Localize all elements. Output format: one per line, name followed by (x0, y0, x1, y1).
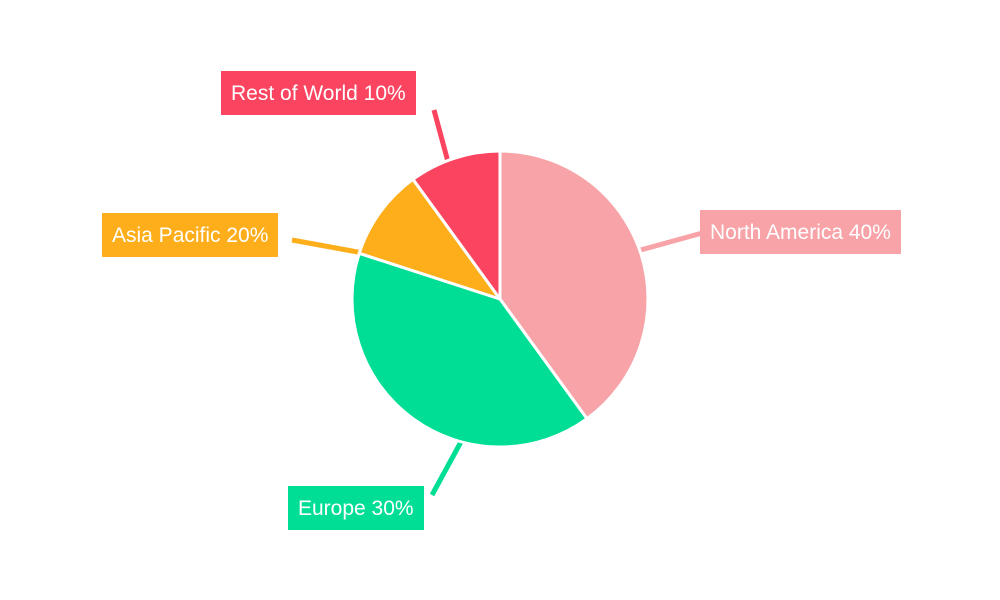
pie-label-rest-of-world: Rest of World 10% (221, 71, 416, 115)
pie-label-europe-text: Europe 30% (298, 498, 414, 519)
pie-label-north-america: North America 40% (700, 210, 901, 254)
pie-chart-canvas (0, 0, 1000, 600)
pie-label-asia-pacific-text: Asia Pacific 20% (112, 225, 268, 246)
leader-line-north-america (637, 232, 706, 251)
pie-label-europe: Europe 30% (288, 486, 424, 530)
pie-slices (352, 151, 648, 447)
pie-label-rest-of-world-text: Rest of World 10% (231, 83, 406, 104)
leader-line-europe (432, 440, 462, 495)
pie-label-asia-pacific: Asia Pacific 20% (102, 213, 278, 257)
pie-chart-figure: North America 40% Europe 30% Asia Pacifi… (0, 0, 1000, 600)
leader-line-asia-pacific (292, 240, 363, 253)
pie-label-north-america-text: North America 40% (710, 222, 891, 243)
